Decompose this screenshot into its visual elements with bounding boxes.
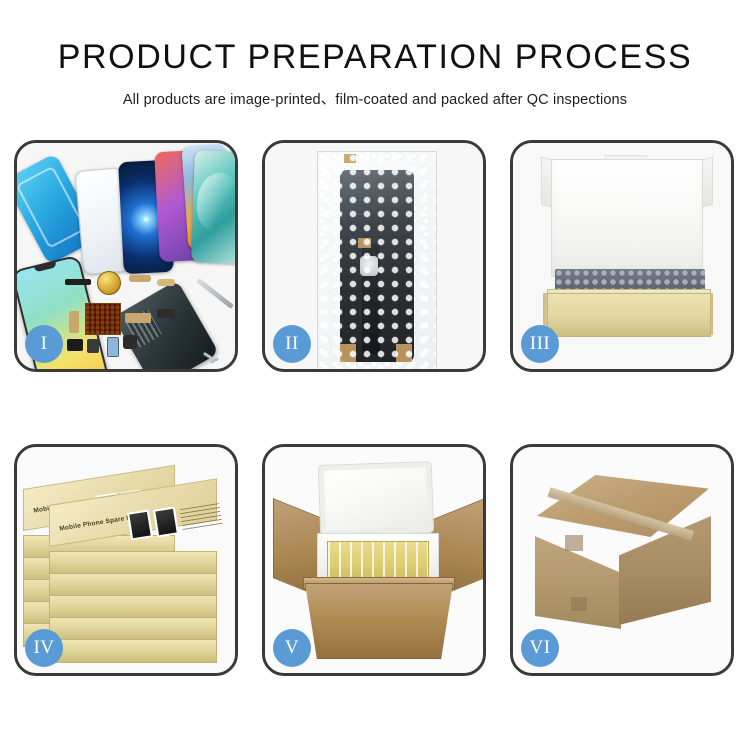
panel-badge-2: II (273, 325, 311, 363)
process-panel-5: V (262, 444, 486, 676)
carton-seam-graphic (565, 535, 583, 551)
panel-badge-4: IV (25, 629, 63, 667)
carton-body-graphic (305, 583, 453, 659)
process-panel-4: Mobile Phone Spare Parts Mobile Phone Sp… (14, 444, 238, 676)
box-front-graphic (547, 293, 711, 337)
part-graphic (123, 335, 137, 349)
part-graphic (157, 279, 175, 286)
tape-tab-graphic (340, 344, 356, 362)
part-graphic (157, 309, 175, 318)
panel-badge-5: V (273, 629, 311, 667)
screws-graphic (203, 351, 223, 365)
part-graphic (125, 313, 151, 323)
process-panel-2: II (262, 140, 486, 372)
page-subtitle: All products are image-printed、film-coat… (0, 88, 750, 109)
tape-tab-graphic (396, 344, 412, 362)
tape-tab-graphic (344, 154, 356, 163)
bubble-wrap-bag-graphic (317, 151, 437, 371)
part-graphic (87, 339, 99, 353)
chip-grid-graphic (85, 303, 121, 335)
box-thumbnail (127, 509, 153, 540)
panel-badge-3: III (521, 325, 559, 363)
page-title: PRODUCT PREPARATION PROCESS (0, 40, 750, 74)
process-panel-grid: I II (14, 140, 738, 676)
speaker-coil-graphic (97, 271, 121, 295)
box-layer (49, 573, 217, 597)
part-graphic (69, 311, 79, 333)
box-stack-front: Mobile Phone Spare Parts (49, 505, 215, 673)
connector-graphic (360, 256, 378, 276)
tweezers-graphic (196, 278, 234, 309)
box-layer (49, 639, 217, 663)
carton-seam-graphic (571, 597, 587, 611)
foam-lid-graphic (318, 461, 434, 537)
box-layer (49, 595, 217, 619)
teal-phone-graphic (191, 150, 238, 264)
part-graphic (65, 279, 91, 285)
box-feature-lines (180, 503, 223, 531)
page-header: PRODUCT PREPARATION PROCESS All products… (0, 0, 750, 109)
box-layer (49, 551, 217, 575)
panel-badge-1: I (25, 325, 63, 363)
panel-badge-6: VI (521, 629, 559, 667)
box-lid-graphic (551, 159, 703, 277)
process-panel-3: III (510, 140, 734, 372)
process-panel-1: I (14, 140, 238, 372)
box-thumbnail (153, 506, 179, 537)
process-panel-6: VI (510, 444, 734, 676)
tape-tab-graphic (358, 238, 371, 248)
box-layer (49, 617, 217, 641)
part-graphic (67, 339, 83, 351)
part-graphic (107, 337, 119, 357)
part-graphic (129, 275, 151, 282)
